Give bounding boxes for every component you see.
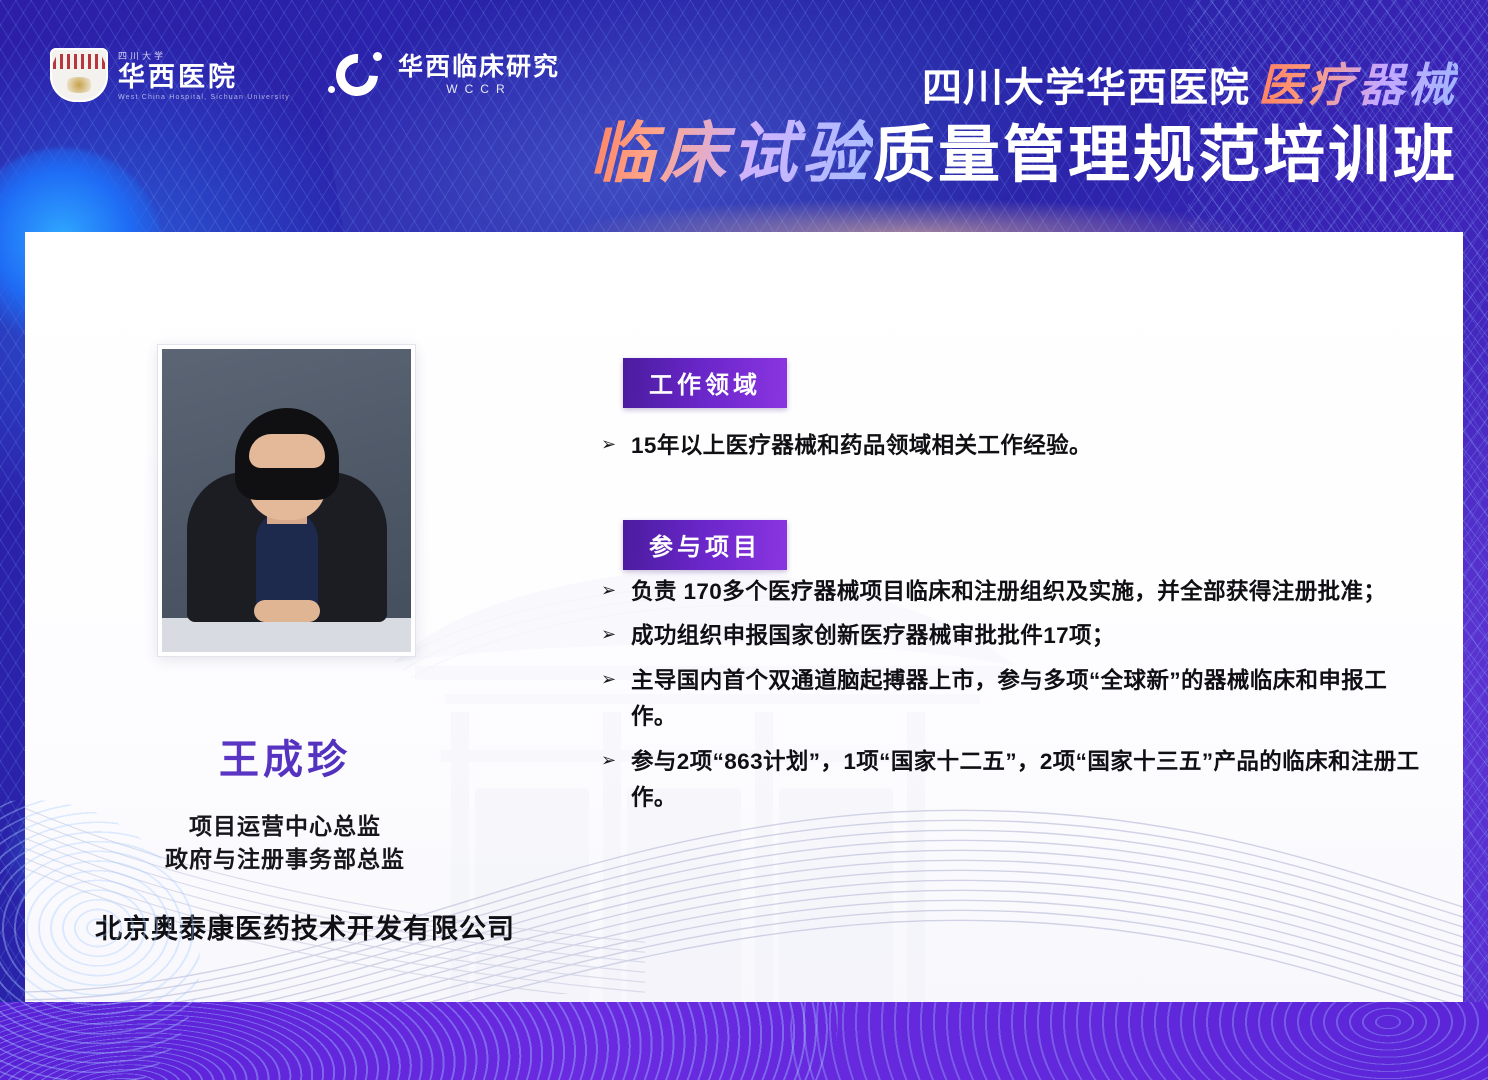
speaker-name: 王成珍 (25, 727, 545, 785)
bottom-ring-pattern-right (788, 1002, 1488, 1080)
hospital-logo-sup: 四川大学 (118, 49, 290, 62)
logo-west-china-hospital: 四川大学 华西医院 West China Hospital, Sichuan U… (50, 48, 290, 102)
header-underglow (560, 198, 1260, 232)
list-item: ➢ 成功组织申报国家创新医疗器械审批批件17项； (601, 618, 1421, 654)
bullet-text: 负责 170多个医疗器械项目临床和注册组织及实施，并全部获得注册批准； (631, 574, 1386, 610)
header-title-line-1: 四川大学华西医院医疗器械 (589, 62, 1458, 108)
bullet-arrow-icon: ➢ (601, 574, 617, 607)
bullet-text: 参与2项“863计划”，1项“国家十二五”，2项“国家十三五”产品的临床和注册工… (631, 744, 1421, 817)
photo-hands (254, 600, 320, 622)
bullet-text: 主导国内首个双通道脑起搏器上市，参与多项“全球新”的器械临床和申报工作。 (631, 663, 1421, 736)
wccr-circle-icon (328, 48, 386, 102)
header-title-line-2: 临床试验质量管理规范培训班 (589, 120, 1458, 187)
bullet-text: 15年以上医疗器械和药品领域相关工作经验。 (631, 428, 1092, 464)
content-card: 王成珍 项目运营中心总监 政府与注册事务部总监 北京奥泰康医药技术开发有限公司 … (25, 232, 1463, 1042)
speaker-titles: 项目运营中心总监 政府与注册事务部总监 (25, 810, 545, 875)
header-title-line2-plain: 质量管理规范培训班 (873, 121, 1458, 190)
bullet-arrow-icon: ➢ (601, 618, 617, 651)
bullet-list-projects: ➢ 负责 170多个医疗器械项目临床和注册组织及实施，并全部获得注册批准； ➢ … (601, 574, 1421, 817)
slide-header: 四川大学 华西医院 West China Hospital, Sichuan U… (0, 0, 1488, 232)
wccr-dot-lower-icon (328, 86, 335, 93)
wccr-logo-cn: 华西临床研究 (398, 54, 560, 80)
bottom-ring-pattern-left (0, 1002, 866, 1080)
section-badge-work-field: 工作领域 (623, 358, 787, 408)
hospital-crest-icon (50, 48, 108, 102)
bullet-list-work-field: ➢ 15年以上医疗器械和药品领域相关工作经验。 (601, 428, 1431, 464)
list-item: ➢ 主导国内首个双通道脑起搏器上市，参与多项“全球新”的器械临床和申报工作。 (601, 663, 1421, 736)
bullet-arrow-icon: ➢ (601, 428, 617, 461)
speaker-title-line-2: 政府与注册事务部总监 (25, 843, 545, 876)
header-title-line1-accent: 医疗器械 (1250, 59, 1458, 111)
wccr-logo-en: WCCR (398, 82, 560, 96)
photo-desk (162, 618, 411, 652)
hospital-logo-en: West China Hospital, Sichuan University (118, 94, 290, 101)
hospital-logo-cn: 华西医院 (118, 63, 290, 91)
section-projects-badge-wrap: 参与项目 (623, 520, 787, 570)
bullet-arrow-icon: ➢ (601, 744, 617, 777)
hospital-logo-text: 四川大学 华西医院 West China Hospital, Sichuan U… (118, 49, 290, 100)
list-item: ➢ 负责 170多个医疗器械项目临床和注册组织及实施，并全部获得注册批准； (601, 574, 1421, 610)
wccr-dot-upper-icon (373, 52, 382, 61)
header-title-line2-accent: 临床试验 (589, 116, 873, 190)
speaker-company: 北京奥泰康医药技术开发有限公司 (25, 907, 585, 946)
list-item: ➢ 15年以上医疗器械和药品领域相关工作经验。 (601, 428, 1431, 464)
speaker-photo (158, 345, 415, 656)
slide-root: 四川大学 华西医院 West China Hospital, Sichuan U… (0, 0, 1488, 1080)
section-work-field-badge-wrap: 工作领域 (623, 358, 787, 408)
wccr-logo-text: 华西临床研究 WCCR (398, 54, 560, 95)
speaker-title-line-1: 项目运营中心总监 (25, 810, 545, 843)
header-title-line1-plain: 四川大学华西医院 (922, 66, 1250, 110)
bullet-arrow-icon: ➢ (601, 663, 617, 696)
bottom-decorative-band (0, 1002, 1488, 1080)
bullet-text: 成功组织申报国家创新医疗器械审批批件17项； (631, 618, 1115, 654)
logo-wccr: 华西临床研究 WCCR (328, 48, 560, 102)
section-badge-projects: 参与项目 (623, 520, 787, 570)
list-item: ➢ 参与2项“863计划”，1项“国家十二五”，2项“国家十三五”产品的临床和注… (601, 744, 1421, 817)
logo-group: 四川大学 华西医院 West China Hospital, Sichuan U… (50, 48, 560, 102)
header-title-block: 四川大学华西医院医疗器械 临床试验质量管理规范培训班 (589, 62, 1458, 187)
